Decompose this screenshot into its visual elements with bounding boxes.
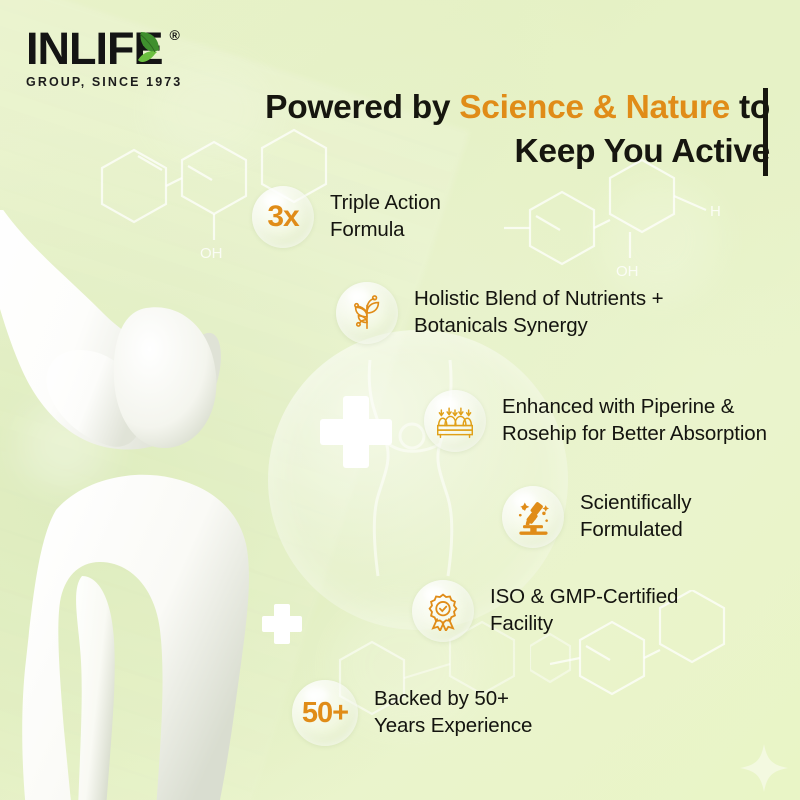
sparkle-icon — [738, 742, 790, 794]
feature-row-holistic-blend: Holistic Blend of Nutrients + Botanicals… — [336, 282, 663, 344]
feature-text-enhanced-absorption: Enhanced with Piperine & Rosehip for Bet… — [502, 394, 767, 447]
botanical-sprig-icon — [336, 282, 398, 344]
registered-mark: ® — [170, 28, 179, 42]
infographic-poster: OH H H OH — [0, 0, 800, 800]
svg-text:H: H — [710, 203, 721, 220]
plus-mark — [320, 396, 392, 468]
feature-text-scientifically-formulated: Scientifically Formulated — [580, 490, 691, 543]
brand-logo: INLIFE ® GROUP, SINCE 1973 — [26, 26, 216, 89]
svg-text:OH: OH — [616, 263, 639, 280]
feature-text-iso-gmp: ISO & GMP-Certified Facility — [490, 584, 678, 637]
feature-row-years-experience: 50+ Backed by 50+ Years Experience — [292, 680, 532, 746]
feature-row-triple-action: 3x Triple Action Formula — [252, 186, 441, 248]
headline-line2: Keep You Active — [514, 133, 770, 170]
badge-50plus: 50+ — [292, 680, 358, 746]
badge-3x-label: 3x — [267, 200, 298, 234]
microscope-icon — [502, 486, 564, 548]
leaf-icon — [137, 26, 167, 70]
badge-3x: 3x — [252, 186, 314, 248]
award-ribbon-icon — [412, 580, 474, 642]
knee-outline-watermark — [300, 350, 540, 590]
brand-wordmark: INLIFE ® — [26, 26, 216, 71]
badge-50plus-label: 50+ — [302, 697, 348, 730]
feature-text-holistic-blend: Holistic Blend of Nutrients + Botanicals… — [414, 286, 663, 339]
feature-row-enhanced-absorption: Enhanced with Piperine & Rosehip for Bet… — [424, 390, 767, 452]
headline-prefix: Powered by — [265, 89, 459, 126]
page-title: Powered by Science & Nature to Keep You … — [150, 86, 788, 174]
headline-accent: Science & Nature — [459, 89, 730, 126]
molecule-pattern-right: H H OH — [500, 150, 800, 390]
headline-vertical-rule — [763, 88, 768, 176]
feature-text-years-experience: Backed by 50+ Years Experience — [374, 686, 532, 739]
feature-text-triple-action: Triple Action Formula — [330, 190, 441, 243]
feature-row-scientifically-formulated: Scientifically Formulated — [502, 486, 691, 548]
knee-joint-illustration — [0, 210, 290, 800]
absorption-icon — [424, 390, 486, 452]
feature-row-iso-gmp: ISO & GMP-Certified Facility — [412, 580, 678, 642]
